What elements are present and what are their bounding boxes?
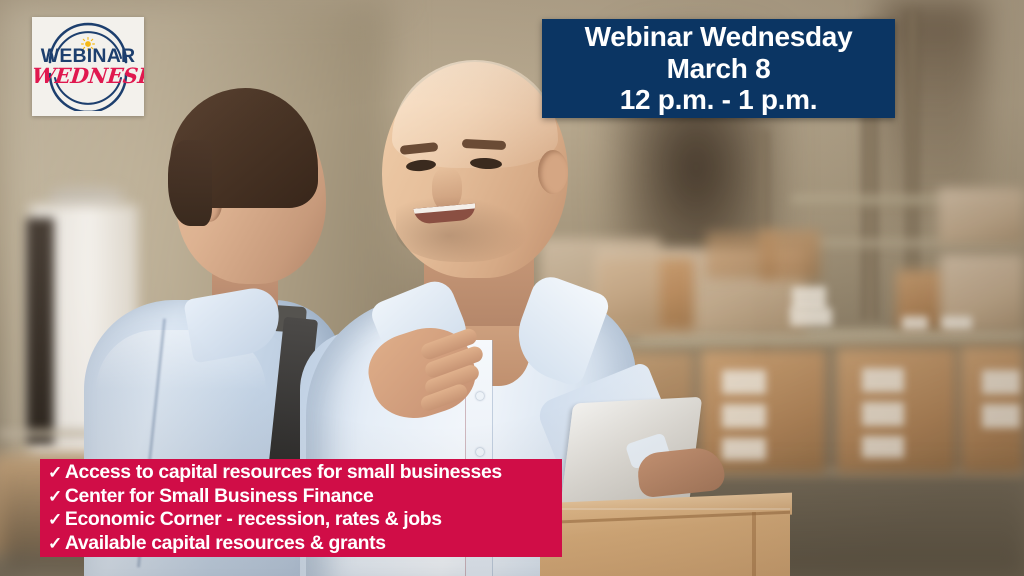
logo-line-wednesday: WEDNESDAY: [32, 65, 144, 86]
webinar-title: Webinar Wednesday: [585, 21, 853, 52]
shirt-button: [476, 392, 484, 400]
list-item: ✓ Access to capital resources for small …: [48, 461, 552, 485]
webinar-wednesday-logo: WEBINAR WEDNESDAY: [32, 17, 144, 116]
list-item: ✓ Available capital resources & grants: [48, 532, 552, 556]
cart-rail: [0, 430, 96, 437]
list-item-label: Access to capital resources for small bu…: [65, 461, 502, 484]
box-label: [790, 308, 832, 326]
box-label: [982, 370, 1020, 394]
list-item: ✓ Center for Small Business Finance: [48, 485, 552, 509]
checkmark-icon: ✓: [48, 533, 62, 556]
webinar-promo-poster: WEBINAR WEDNESDAY Webinar Wednesday Marc…: [0, 0, 1024, 576]
webinar-date-panel: Webinar Wednesday March 8 12 p.m. - 1 p.…: [542, 19, 895, 118]
shirt-button: [476, 448, 484, 456]
cardboard-box-edge: [752, 512, 756, 576]
stacked-boxes: [938, 188, 1024, 244]
box-label: [722, 404, 766, 428]
checkmark-icon: ✓: [48, 509, 62, 532]
stacked-boxes: [706, 232, 776, 278]
checkmark-icon: ✓: [48, 486, 62, 509]
box-label: [862, 436, 904, 458]
box-label: [902, 316, 928, 330]
box-label: [862, 402, 904, 426]
box-label: [982, 404, 1020, 428]
box-label: [862, 368, 904, 392]
checkmark-icon: ✓: [48, 462, 62, 485]
webinar-time: 12 p.m. - 1 p.m.: [620, 84, 817, 115]
box-label: [722, 370, 766, 394]
shelf-post: [906, 10, 919, 310]
webinar-date: March 8: [667, 53, 771, 84]
topics-list-panel: ✓ Access to capital resources for small …: [40, 459, 562, 557]
list-item: ✓ Economic Corner - recession, rates & j…: [48, 508, 552, 532]
ear: [538, 150, 568, 194]
cabinet-dark-panel: [26, 218, 54, 444]
list-item-label: Economic Corner - recession, rates & job…: [65, 508, 442, 531]
hair-sideburn: [168, 140, 212, 226]
list-item-label: Center for Small Business Finance: [65, 485, 374, 508]
list-item-label: Available capital resources & grants: [65, 532, 386, 555]
hand-resting-on-box: [636, 446, 726, 499]
box-label: [942, 316, 972, 329]
